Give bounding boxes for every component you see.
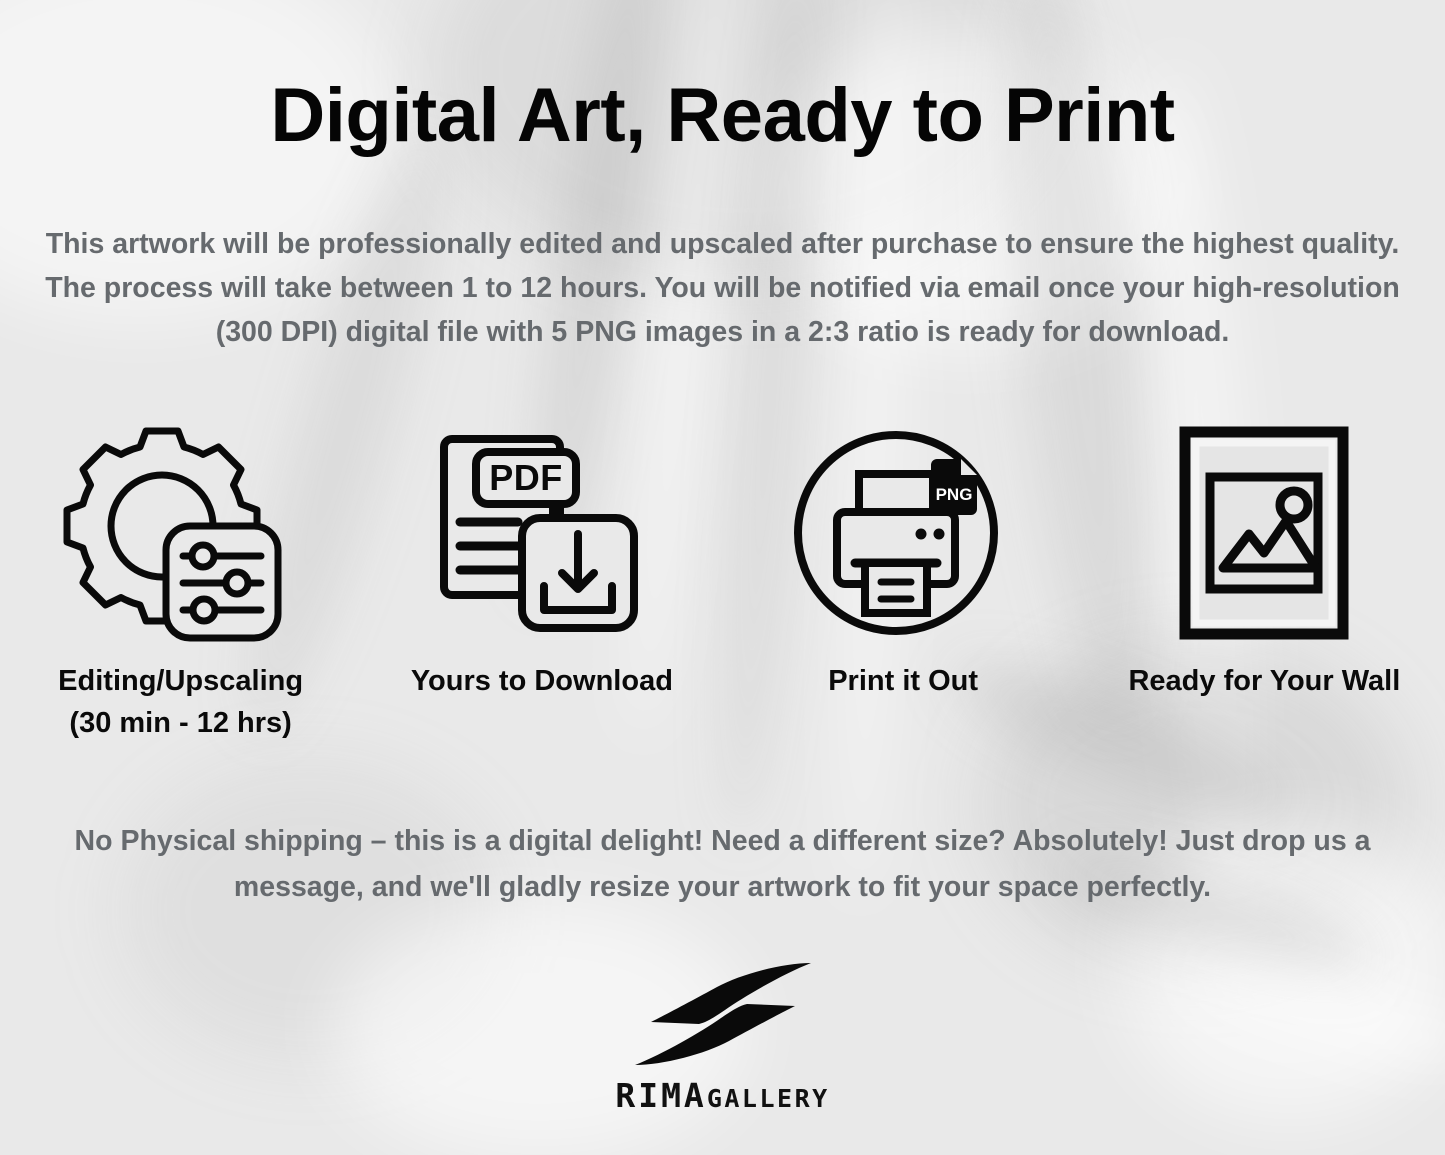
pdf-badge-label: PDF (489, 457, 563, 498)
brand-logo: RIMA GALLERY (0, 958, 1445, 1115)
page-title: Digital Art, Ready to Print (0, 76, 1445, 156)
feature-label: Ready for Your Wall (1128, 660, 1400, 702)
pdf-download-icon: PDF (434, 418, 650, 648)
feature-label: Editing/Upscaling (30 min - 12 hrs) (58, 660, 303, 744)
logo-wordmark: RIMA GALLERY (615, 1076, 829, 1115)
logo-name-primary: RIMA (615, 1076, 706, 1115)
gear-sliders-icon (61, 418, 301, 648)
printer-circle-icon: PNG (793, 418, 1013, 648)
feature-item-editing-upscaling: Editing/Upscaling (30 min - 12 hrs) (0, 418, 361, 744)
feature-item-ready-for-your-wall: Ready for Your Wall (1084, 418, 1445, 702)
feature-item-print-it-out: PNG Print it Out (723, 418, 1084, 702)
poster-root: Digital Art, Ready to Print This artwork… (0, 0, 1445, 1155)
feature-item-yours-to-download: PDF Yours to Download (361, 418, 722, 702)
feature-row: Editing/Upscaling (30 min - 12 hrs) (0, 418, 1445, 744)
framed-picture-icon (1177, 418, 1351, 648)
intro-paragraph: This artwork will be professionally edit… (40, 222, 1405, 355)
png-badge-label: PNG (936, 485, 973, 504)
rima-swoosh-mark (633, 958, 813, 1070)
feature-label: Yours to Download (411, 660, 673, 702)
outro-paragraph: No Physical shipping – this is a digital… (40, 818, 1405, 910)
feature-label: Print it Out (828, 660, 978, 702)
logo-name-secondary: GALLERY (707, 1084, 830, 1113)
